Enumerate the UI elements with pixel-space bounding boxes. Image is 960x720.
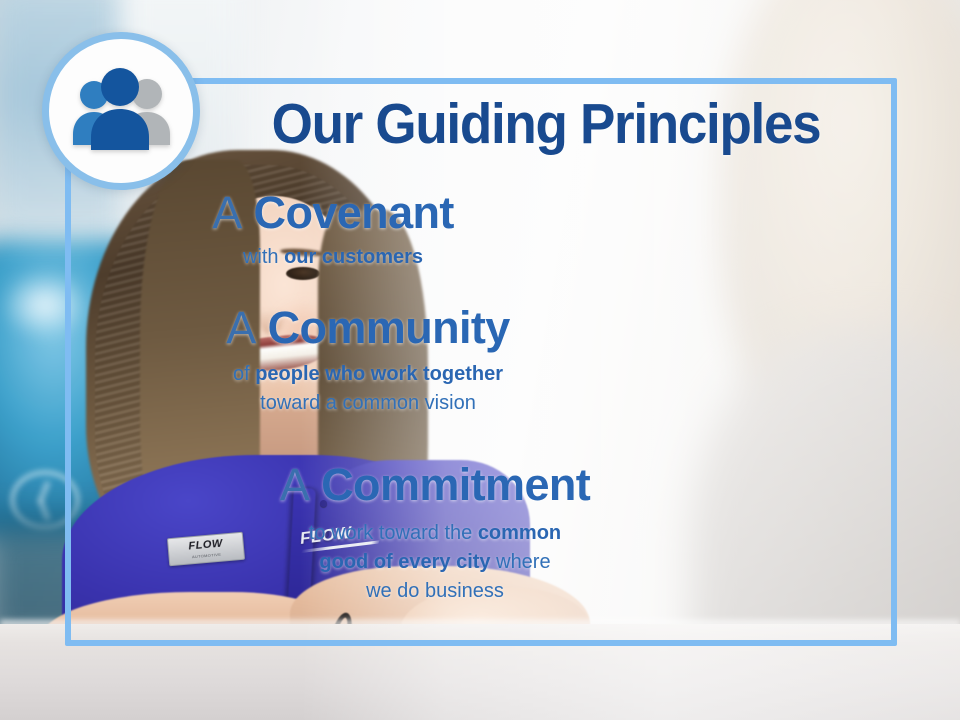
subtext-line: we do business bbox=[0, 577, 870, 606]
principle-community-heading: A Community bbox=[0, 305, 736, 352]
text-content-layer: Our Guiding Principles A Covenant with o… bbox=[0, 0, 960, 720]
principle-covenant-heading: A Covenant bbox=[0, 190, 666, 237]
subtext-line: to work toward the common bbox=[0, 519, 870, 548]
subtext-line: good of every city where bbox=[0, 548, 870, 577]
principle-covenant-subtext: with our customers bbox=[0, 243, 666, 272]
principle-community: A Community of people who work togethert… bbox=[0, 305, 736, 418]
principle-commitment-subtext: to work toward the commongood of every c… bbox=[0, 519, 870, 606]
subtext-line: toward a common vision bbox=[0, 389, 736, 418]
principle-community-lead: A bbox=[226, 302, 255, 353]
principle-covenant: A Covenant with our customers bbox=[0, 190, 666, 272]
principle-community-word: Community bbox=[268, 302, 510, 353]
principle-commitment-heading: A Commitment bbox=[0, 462, 870, 509]
principle-commitment: A Commitment to work toward the commongo… bbox=[0, 462, 870, 606]
subtext-run: of bbox=[233, 363, 255, 385]
principle-covenant-word: Covenant bbox=[254, 187, 454, 238]
subtext-emphasis: common bbox=[478, 522, 561, 544]
subtext-line: with our customers bbox=[0, 243, 666, 272]
subtext-run: with bbox=[243, 246, 284, 268]
subtext-run: toward a common vision bbox=[260, 392, 476, 414]
principle-community-subtext: of people who work togethertoward a comm… bbox=[0, 360, 736, 418]
subtext-run: we do business bbox=[366, 580, 504, 602]
principle-covenant-lead: A bbox=[212, 187, 241, 238]
subtext-emphasis: our customers bbox=[284, 246, 423, 268]
principle-commitment-word: Commitment bbox=[321, 459, 590, 510]
principle-commitment-lead: A bbox=[280, 459, 309, 510]
subtext-line: of people who work together bbox=[0, 360, 736, 389]
page-title: Our Guiding Principles bbox=[239, 96, 853, 153]
subtext-run: where bbox=[491, 551, 551, 573]
subtext-emphasis: good of every city bbox=[319, 551, 490, 573]
subtext-emphasis: people who work together bbox=[255, 363, 503, 385]
subtext-run: to work toward the bbox=[309, 522, 478, 544]
